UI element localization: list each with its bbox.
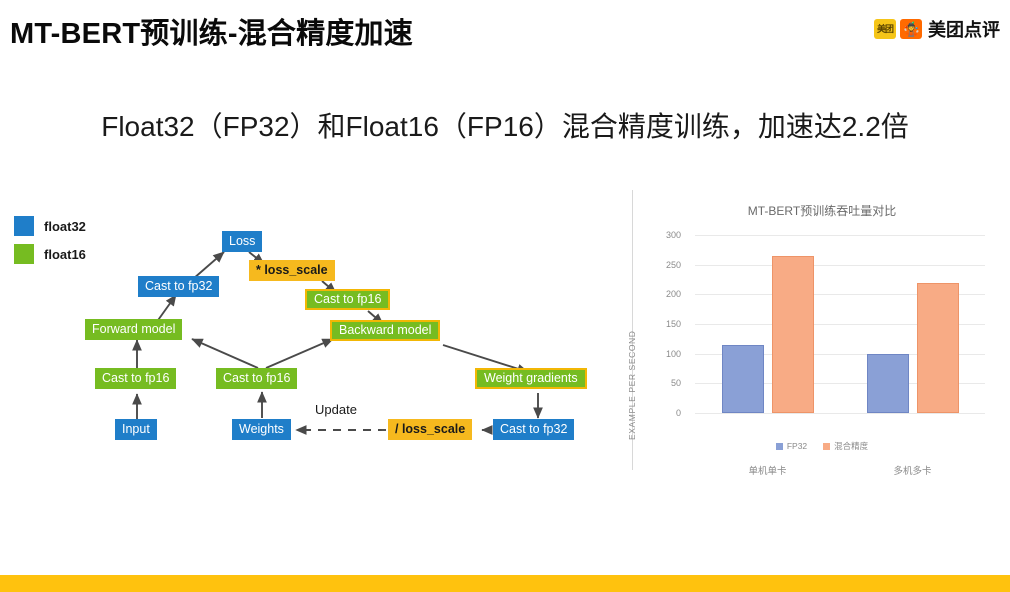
chart-legend: FP32混合精度: [633, 440, 1010, 452]
chart-y-tick-label: 50: [671, 378, 681, 388]
meituan-mascot-icon: 🤹: [900, 19, 922, 39]
chart-y-tick-label: 200: [666, 289, 681, 299]
chart-gridline: [695, 265, 985, 266]
chart-y-tick-label: 150: [666, 319, 681, 329]
diagram-node-cast-to-fp32-bottom: Cast to fp32: [493, 419, 574, 440]
chart-y-tick-label: 250: [666, 260, 681, 270]
diagram-node-forward-model: Forward model: [85, 319, 182, 340]
chart-bar-FP32-多机多卡: [867, 354, 909, 413]
slide-header: MT-BERT预训练-混合精度加速 美团 🤹 美团点评: [0, 0, 1010, 62]
chart-y-tick-label: 0: [676, 408, 681, 418]
mixed-precision-diagram: float32 float16 Loss * loss_scale Cast t…: [0, 190, 630, 470]
throughput-bar-chart: MT-BERT预训练吞吐量对比 EXAMPLE PER SECOND 05010…: [632, 190, 1010, 470]
chart-gridline: [695, 235, 985, 236]
diagram-edge-label-update: Update: [315, 402, 357, 417]
diagram-node-weight-gradients: Weight gradients: [475, 368, 587, 389]
diagram-node-loss-scale-multiply: * loss_scale: [249, 260, 335, 281]
legend-item-float32: float32: [14, 216, 86, 236]
diagram-node-cast-to-fp16-mid: Cast to fp16: [305, 289, 390, 310]
diagram-node-input: Input: [115, 419, 157, 440]
legend-item-float16: float16: [14, 244, 86, 264]
diagram-node-loss-scale-divide: / loss_scale: [388, 419, 472, 440]
chart-legend-item-混合精度: 混合精度: [823, 440, 868, 452]
legend-swatch-float32: [14, 216, 34, 236]
chart-y-tick-label: 300: [666, 230, 681, 240]
legend-label-float32: float32: [44, 219, 86, 234]
chart-gridline: [695, 413, 985, 414]
legend-label-float16: float16: [44, 247, 86, 262]
diagram-node-weights: Weights: [232, 419, 291, 440]
slide-subtitle: Float32（FP32）和Float16（FP16）混合精度训练，加速达2.2…: [0, 105, 1010, 145]
chart-legend-swatch: [823, 443, 830, 450]
diagram-node-cast-to-fp16-center: Cast to fp16: [216, 368, 297, 389]
chart-legend-label: 混合精度: [834, 440, 868, 452]
chart-y-axis-label: EXAMPLE PER SECOND: [627, 330, 637, 440]
chart-plot-area: 050100150200250300单机单卡多机多卡: [695, 235, 985, 413]
chart-bar-混合精度-单机单卡: [772, 256, 814, 413]
chart-legend-label: FP32: [787, 441, 807, 451]
footer-accent-bar: [0, 575, 1010, 592]
diagram-node-loss: Loss: [222, 231, 262, 252]
meituan-badge-icon: 美团: [874, 19, 896, 39]
chart-legend-item-FP32: FP32: [776, 441, 807, 451]
diagram-node-cast-to-fp16-left: Cast to fp16: [95, 368, 176, 389]
chart-x-tick-label: 单机单卡: [748, 463, 786, 477]
diagram-node-backward-model: Backward model: [330, 320, 440, 341]
diagram-node-cast-to-fp32-top: Cast to fp32: [138, 276, 219, 297]
chart-bar-混合精度-多机多卡: [917, 283, 959, 413]
chart-x-tick-label: 多机多卡: [893, 463, 931, 477]
chart-legend-swatch: [776, 443, 783, 450]
chart-bar-FP32-单机单卡: [722, 345, 764, 413]
brand-name: 美团点评: [928, 16, 1000, 42]
chart-y-tick-label: 100: [666, 349, 681, 359]
legend-swatch-float16: [14, 244, 34, 264]
page-title: MT-BERT预训练-混合精度加速: [10, 10, 413, 52]
chart-title: MT-BERT预训练吞吐量对比: [633, 202, 1010, 219]
brand-logo: 美团 🤹 美团点评: [874, 17, 1000, 41]
